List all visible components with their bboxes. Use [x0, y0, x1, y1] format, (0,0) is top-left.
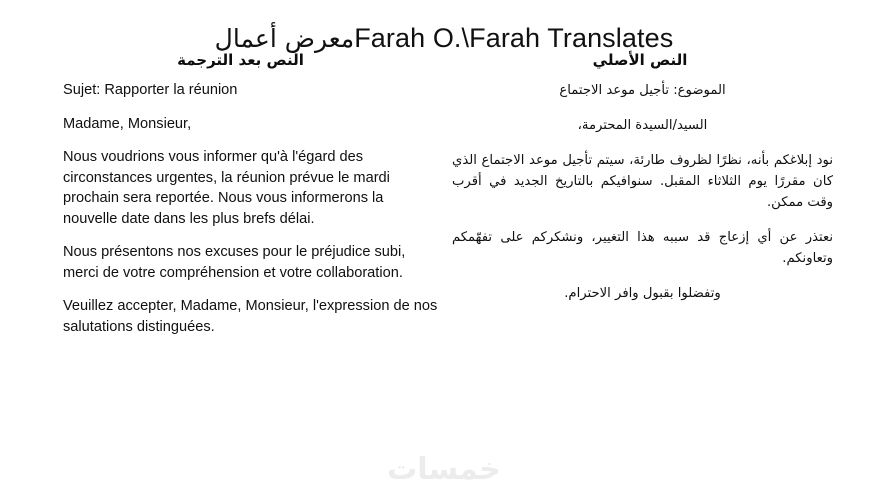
paragraph-body-1: Nous voudrions vous informer qu'à l'égar… [63, 147, 440, 229]
paragraph-body-2: Nous présentons nos excuses pour le préj… [63, 242, 440, 283]
paragraph-body-1: نود إبلاغكم بأنه، نظرًا لظروف طارئة، سيت… [452, 150, 833, 213]
translated-text-body: Sujet: Rapporter la réunion Madame, Mons… [55, 80, 440, 337]
column-heading-translated: النص بعد الترجمة [55, 50, 440, 70]
paragraph-body-2: نعتذر عن أي إزعاج قد سببه هذا التغيير، و… [452, 227, 833, 269]
paragraph-salutation: Madame, Monsieur, [63, 114, 440, 135]
original-text-body: الموضوع: تأجيل موعد الاجتماع السيد/السيد… [452, 80, 833, 304]
document-page: معرض أعمالFarah O.\Farah Translates النص… [0, 0, 888, 495]
watermark-khamsat: خمسات [0, 452, 888, 487]
paragraph-salutation: السيد/السيدة المحترمة، [452, 115, 833, 136]
column-heading-original: النص الأصلي [452, 50, 833, 70]
two-column-layout: النص بعد الترجمة Sujet: Rapporter la réu… [0, 50, 888, 430]
paragraph-closing: Veuillez accepter, Madame, Monsieur, l'e… [63, 296, 440, 337]
page-title-arabic: معرض أعمال [215, 24, 355, 53]
paragraph-closing: وتفضلوا بقبول وافر الاحترام. [452, 283, 833, 304]
column-original-text: النص الأصلي الموضوع: تأجيل موعد الاجتماع… [452, 50, 833, 304]
page-title-latin: Farah O.\Farah Translates [354, 23, 673, 53]
paragraph-subject: الموضوع: تأجيل موعد الاجتماع [452, 80, 833, 101]
paragraph-subject: Sujet: Rapporter la réunion [63, 80, 440, 101]
column-translated-text: النص بعد الترجمة Sujet: Rapporter la réu… [55, 50, 440, 337]
